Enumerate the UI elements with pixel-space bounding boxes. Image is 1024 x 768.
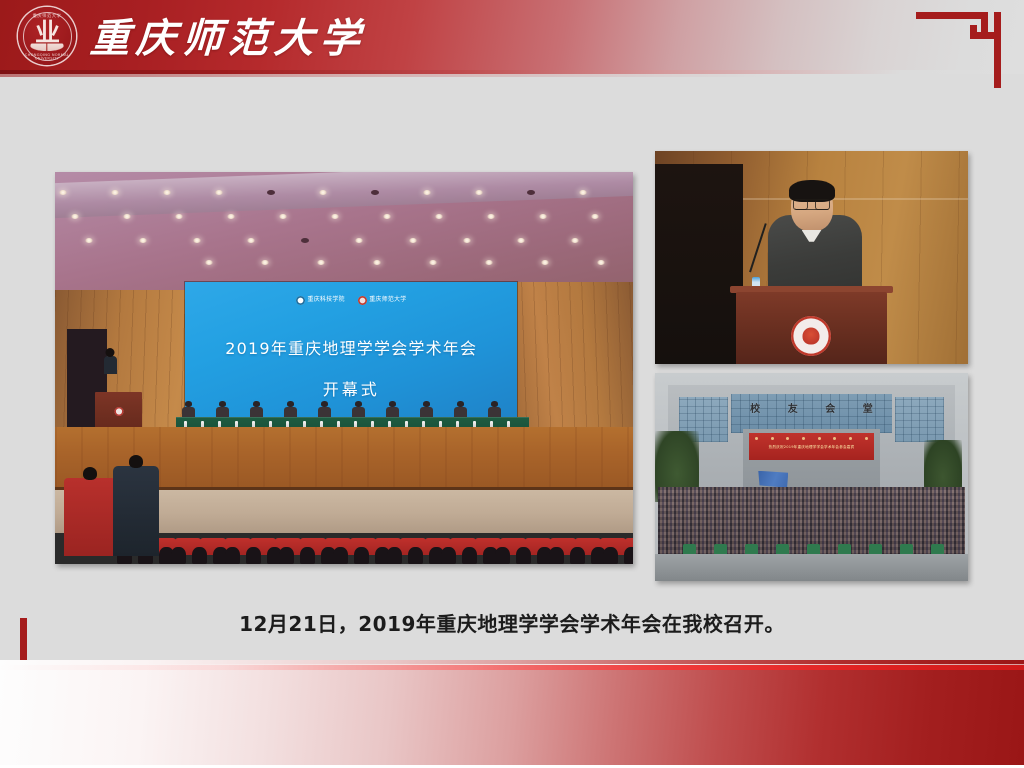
audience-member	[441, 547, 456, 564]
podium	[736, 292, 886, 364]
speaker-glasses-icon	[795, 199, 829, 210]
ceiling-light	[435, 214, 443, 219]
screen-title: 2019年重庆地理学学会学术年会	[185, 338, 517, 360]
ceiling-light	[247, 238, 255, 243]
photographer-dark-coat	[113, 466, 159, 556]
green-planter	[838, 544, 851, 554]
microphones-row	[176, 412, 529, 428]
ceiling-light	[475, 190, 483, 195]
ceiling-light	[541, 260, 549, 265]
ceiling-light	[267, 190, 275, 195]
ceiling-light	[463, 238, 471, 243]
green-planter	[714, 544, 727, 554]
building-sign-character: 堂	[863, 400, 873, 415]
ceiling-light	[539, 214, 547, 219]
ceiling-light	[175, 214, 183, 219]
ceiling-light	[409, 238, 417, 243]
ceiling-light	[123, 214, 131, 219]
audience-member	[300, 547, 315, 564]
emblem-book-shape	[29, 44, 65, 51]
audience-member	[354, 547, 369, 564]
ceiling-light	[205, 260, 213, 265]
photographer2-head	[129, 455, 143, 468]
ceiling-light	[591, 214, 599, 219]
audience-member	[495, 547, 510, 564]
ceiling-light	[163, 190, 171, 195]
audience-member	[516, 547, 531, 564]
ceiling-light	[355, 238, 363, 243]
emblem-glyph: 业	[18, 20, 76, 45]
audience-member	[570, 547, 585, 564]
screen-logo-1-label: 重庆科技学院	[308, 297, 345, 304]
ceiling-light	[597, 260, 605, 265]
presentation-slide: 重庆师范大学 业 CHONGQING NORMAL UNIVERSITY 重庆师…	[0, 0, 1024, 768]
ceiling-light	[319, 190, 327, 195]
green-planter	[776, 544, 789, 554]
ceiling-light	[85, 238, 93, 243]
screen-logo-2-label: 重庆师范大学	[369, 297, 406, 304]
podium-crest-icon	[791, 316, 831, 356]
stage-speaker-figure	[104, 356, 117, 374]
page-title: 重庆师范大学	[88, 6, 367, 64]
emblem-arc-bottom-text: CHONGQING NORMAL UNIVERSITY	[18, 53, 76, 60]
audience-member	[246, 547, 261, 564]
building-glass-right	[895, 397, 944, 442]
green-planter	[931, 544, 944, 554]
corner-ornament-top-right-icon	[912, 8, 1008, 92]
header-underglow	[0, 74, 1024, 77]
building-sign-character: 友	[788, 400, 798, 415]
audience-member	[624, 547, 633, 564]
audience-member	[549, 547, 564, 564]
photographer-head	[83, 467, 97, 480]
ceiling-light	[571, 238, 579, 243]
screen-logo-2: 重庆师范大学	[358, 296, 407, 305]
green-planter	[869, 544, 882, 554]
photo-opening-ceremony: 重庆科技学院 重庆师范大学 2019年重庆地理学学会学术年会 开幕式	[55, 172, 633, 564]
university-emblem-icon: 重庆师范大学 业 CHONGQING NORMAL UNIVERSITY	[18, 7, 76, 65]
event-banner: 热烈庆祝2019年重庆地理学学会学术年会参会嘉宾	[749, 433, 874, 460]
screen-logo-2-mark-icon	[358, 296, 367, 305]
ceiling-light	[139, 238, 147, 243]
ceiling-light	[279, 214, 287, 219]
plaza-ground	[655, 554, 968, 581]
footer-band	[0, 660, 1024, 768]
photo-group-alumni-hall: 校友会堂 热烈庆祝2019年重庆地理学学会学术年会参会嘉宾	[655, 373, 968, 581]
ceiling-light	[487, 214, 495, 219]
audience-member	[387, 547, 402, 564]
green-planter	[745, 544, 758, 554]
ceiling-light	[331, 214, 339, 219]
screen-logo-1: 重庆科技学院	[296, 296, 345, 305]
blue-flag	[758, 471, 788, 488]
green-planter	[900, 544, 913, 554]
ceiling-light	[579, 190, 587, 195]
audience-member	[333, 547, 348, 564]
ceiling-light	[227, 214, 235, 219]
building-sign: 校友会堂	[736, 400, 886, 415]
green-planter	[807, 544, 820, 554]
audience-member	[225, 547, 240, 564]
audience-member	[279, 547, 294, 564]
ceiling-light	[423, 190, 431, 195]
ceiling-light	[485, 260, 493, 265]
photo-speaker-at-podium	[655, 151, 968, 364]
screen-logo-1-mark-icon	[296, 296, 305, 305]
ceiling-light	[301, 238, 309, 243]
building-sign-character: 校	[750, 400, 760, 415]
ceiling-light	[261, 260, 269, 265]
speaker-wall-trim	[743, 198, 968, 200]
screen-logo-row: 重庆科技学院 重庆师范大学	[185, 296, 517, 305]
building-sign-character: 会	[825, 400, 835, 415]
ceiling-light	[429, 260, 437, 265]
banner-lights	[749, 437, 874, 440]
ceiling-light	[383, 214, 391, 219]
banner-text: 热烈庆祝2019年重庆地理学学会学术年会参会嘉宾	[749, 445, 874, 450]
audience-member	[171, 547, 186, 564]
audience-member	[408, 547, 423, 564]
ceiling-light	[527, 190, 535, 195]
ceiling-light	[371, 190, 379, 195]
ceiling-light	[193, 238, 201, 243]
ceiling-light	[59, 190, 67, 195]
ceiling-light	[215, 190, 223, 195]
ceiling-light	[317, 260, 325, 265]
slide-caption: 12月21日，2019年重庆地理学学会学术年会在我校召开。	[0, 608, 1024, 637]
photographer-red-vest	[64, 478, 116, 556]
ceiling-light	[71, 214, 79, 219]
ceiling-light	[517, 238, 525, 243]
audience-member	[192, 547, 207, 564]
audience-member	[462, 547, 477, 564]
footer-accent-line	[0, 665, 1024, 670]
ceiling-light	[111, 190, 119, 195]
audience-member	[603, 547, 618, 564]
speaker-dark-doorway	[655, 164, 743, 364]
ceiling-light	[373, 260, 381, 265]
green-planter	[683, 544, 696, 554]
